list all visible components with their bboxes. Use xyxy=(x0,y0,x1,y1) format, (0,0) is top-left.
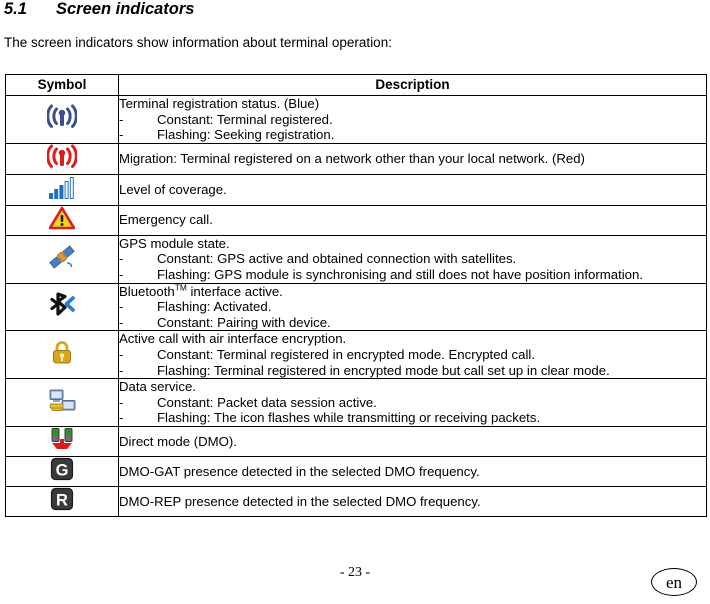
table-body: Terminal registration status. (Blue)-Con… xyxy=(6,96,707,517)
bullet-text: Constant: Pairing with device. xyxy=(157,315,331,330)
bullet-text: Flashing: Terminal registered in encrypt… xyxy=(157,363,610,378)
migration-antenna-red-icon xyxy=(47,144,77,169)
description-cell: Level of coverage. xyxy=(119,174,707,205)
description-cell: BluetoothTM interface active.-Flashing: … xyxy=(119,283,707,331)
bluetooth-icon xyxy=(49,292,75,316)
symbol-cell: R xyxy=(6,486,119,516)
bullet-dash: - xyxy=(119,251,157,267)
direct-mode-dmo-icon xyxy=(50,427,74,451)
dmo-rep-icon: R xyxy=(50,487,74,511)
description-cell: Data service.-Constant: Packet data sess… xyxy=(119,379,707,427)
description-line: Data service. xyxy=(119,379,706,395)
description-line: Emergency call. xyxy=(119,212,706,228)
description-line: Active call with air interface encryptio… xyxy=(119,331,706,347)
description-cell: Emergency call. xyxy=(119,205,707,235)
description-cell: Migration: Terminal registered on a netw… xyxy=(119,143,707,174)
symbol-cell xyxy=(6,205,119,235)
table-row: Terminal registration status. (Blue)-Con… xyxy=(6,96,707,144)
description-line: Level of coverage. xyxy=(119,182,706,198)
table-row: GPS module state.-Constant: GPS active a… xyxy=(6,235,707,283)
bullet-dash: - xyxy=(119,127,157,143)
description-bullet-line: -Constant: GPS active and obtained conne… xyxy=(119,251,706,267)
table-row: Level of coverage. xyxy=(6,174,707,205)
bullet-text: Flashing: GPS module is synchronising an… xyxy=(157,267,643,282)
bullet-dash: - xyxy=(119,315,157,331)
registration-antenna-blue-icon xyxy=(47,104,77,129)
trademark-superscript: TM xyxy=(175,282,187,292)
description-cell: Direct mode (DMO). xyxy=(119,426,707,456)
bullet-dash: - xyxy=(119,410,157,426)
table-row: RDMO-REP presence detected in the select… xyxy=(6,486,707,516)
document-page: 5.1Screen indicators The screen indicato… xyxy=(0,0,710,604)
page-title: 5.1Screen indicators xyxy=(4,0,194,19)
symbol-cell xyxy=(6,143,119,174)
symbol-cell xyxy=(6,235,119,283)
symbol-cell xyxy=(6,426,119,456)
data-service-network-icon xyxy=(49,388,76,412)
bullet-dash: - xyxy=(119,267,157,283)
svg-text:G: G xyxy=(56,461,69,479)
symbol-cell: G xyxy=(6,456,119,486)
signal-bars-icon xyxy=(48,175,76,200)
symbol-cell xyxy=(6,174,119,205)
table-row: Active call with air interface encryptio… xyxy=(6,331,707,379)
bullet-text: Constant: Terminal registered in encrypt… xyxy=(157,347,535,362)
language-badge: en xyxy=(651,568,697,596)
section-title: Screen indicators xyxy=(56,0,194,18)
table-row: GDMO-GAT presence detected in the select… xyxy=(6,456,707,486)
description-bullet-line: -Flashing: Terminal registered in encryp… xyxy=(119,363,706,379)
bullet-dash: - xyxy=(119,347,157,363)
bullet-text: Flashing: The icon flashes while transmi… xyxy=(157,410,540,425)
dmo-gat-icon: G xyxy=(50,457,74,481)
emergency-warning-triangle-icon xyxy=(49,206,75,230)
table-row: Emergency call. xyxy=(6,205,707,235)
bullet-text: Flashing: Activated. xyxy=(157,299,271,314)
bullet-dash: - xyxy=(119,299,157,315)
description-cell: DMO-GAT presence detected in the selecte… xyxy=(119,456,707,486)
bullet-text: Constant: GPS active and obtained connec… xyxy=(157,251,516,266)
bullet-dash: - xyxy=(119,112,157,128)
symbol-cell xyxy=(6,283,119,331)
table-row: Direct mode (DMO). xyxy=(6,426,707,456)
table-header-row: Symbol Description xyxy=(6,75,707,96)
description-line: Direct mode (DMO). xyxy=(119,434,706,450)
symbol-cell xyxy=(6,331,119,379)
symbol-cell xyxy=(6,379,119,427)
description-bullet-line: -Flashing: Activated. xyxy=(119,299,706,315)
description-line: DMO-GAT presence detected in the selecte… xyxy=(119,464,706,480)
section-number: 5.1 xyxy=(4,0,56,19)
description-bullet-line: -Constant: Pairing with device. xyxy=(119,315,706,331)
table-row: BluetoothTM interface active.-Flashing: … xyxy=(6,283,707,331)
table-row: Data service.-Constant: Packet data sess… xyxy=(6,379,707,427)
description-bullet-line: -Flashing: Seeking registration. xyxy=(119,127,706,143)
svg-text:R: R xyxy=(56,491,68,509)
footer-page-number: - 23 - xyxy=(0,565,710,581)
screen-indicators-table: Symbol Description Terminal registration… xyxy=(5,74,707,517)
column-header-symbol: Symbol xyxy=(6,75,119,96)
bullet-text: Constant: Terminal registered. xyxy=(157,112,333,127)
description-text-tail: interface active. xyxy=(187,284,283,299)
padlock-encryption-icon xyxy=(50,340,74,364)
symbol-cell xyxy=(6,96,119,144)
description-text: Bluetooth xyxy=(119,284,175,299)
bullet-text: Constant: Packet data session active. xyxy=(157,395,377,410)
description-cell: DMO-REP presence detected in the selecte… xyxy=(119,486,707,516)
column-header-description: Description xyxy=(119,75,707,96)
description-line: BluetoothTM interface active. xyxy=(119,284,706,300)
description-line: GPS module state. xyxy=(119,236,706,252)
description-cell: Active call with air interface encryptio… xyxy=(119,331,707,379)
bullet-dash: - xyxy=(119,395,157,411)
bullet-text: Flashing: Seeking registration. xyxy=(157,127,334,142)
bullet-dash: - xyxy=(119,363,157,379)
description-cell: GPS module state.-Constant: GPS active a… xyxy=(119,235,707,283)
description-line: Migration: Terminal registered on a netw… xyxy=(119,151,706,167)
description-line: DMO-REP presence detected in the selecte… xyxy=(119,494,706,510)
table-row: Migration: Terminal registered on a netw… xyxy=(6,143,707,174)
intro-paragraph: The screen indicators show information a… xyxy=(4,35,392,50)
description-bullet-line: -Constant: Terminal registered. xyxy=(119,112,706,128)
gps-satellite-icon xyxy=(48,244,76,270)
description-cell: Terminal registration status. (Blue)-Con… xyxy=(119,96,707,144)
description-bullet-line: -Flashing: The icon flashes while transm… xyxy=(119,410,706,426)
description-line: Terminal registration status. (Blue) xyxy=(119,96,706,112)
description-bullet-line: -Constant: Terminal registered in encryp… xyxy=(119,347,706,363)
description-bullet-line: -Flashing: GPS module is synchronising a… xyxy=(119,267,706,283)
description-bullet-line: -Constant: Packet data session active. xyxy=(119,395,706,411)
